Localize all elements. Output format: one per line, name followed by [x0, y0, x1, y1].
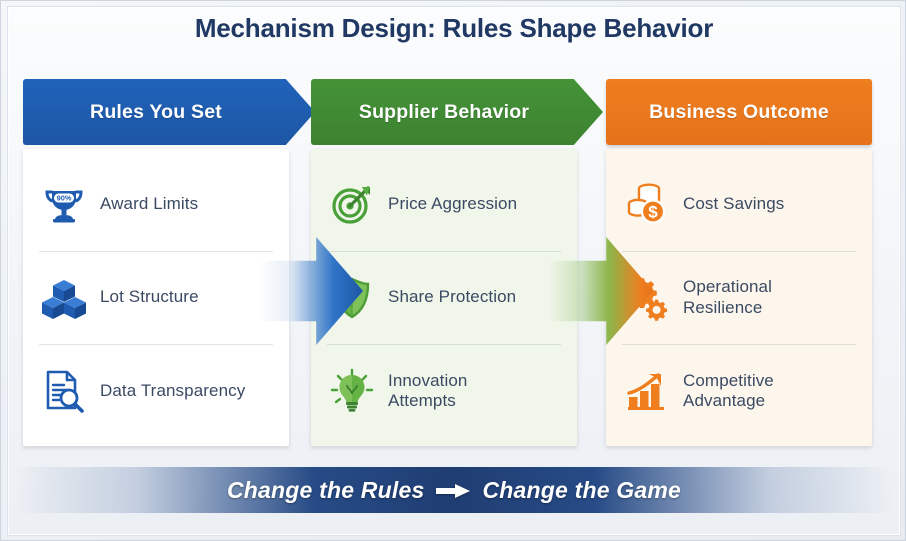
- target-arrow-icon: [329, 181, 375, 227]
- bottom-banner: Change the Rules Change the Game: [15, 467, 893, 513]
- column-header-label: Business Outcome: [649, 101, 829, 124]
- column-header-label: Supplier Behavior: [359, 101, 529, 124]
- growth-chart-icon: [624, 368, 670, 414]
- svg-text:$: $: [648, 202, 658, 221]
- cubes-icon: [41, 275, 87, 321]
- list-item-label: Data Transparency: [100, 381, 245, 401]
- column-supplier-behavior: Supplier Behavior Price Aggression: [311, 79, 577, 446]
- right-arrow-icon: [436, 484, 470, 497]
- list-item-label: Competitive Advantage: [683, 371, 774, 411]
- infographic-canvas: Mechanism Design: Rules Shape Behavior R…: [0, 0, 906, 541]
- list-item[interactable]: Price Aggression: [325, 157, 563, 251]
- list-item-label: Price Aggression: [388, 194, 517, 214]
- coins-dollar-icon: $: [624, 181, 670, 227]
- list-item[interactable]: Innovation Attempts: [325, 344, 563, 438]
- banner-left-text: Change the Rules: [227, 477, 424, 504]
- document-search-icon: [41, 368, 87, 414]
- lightbulb-icon: [329, 368, 375, 414]
- column-business-outcome: Business Outcome: [606, 79, 872, 446]
- list-item-label: Share Protection: [388, 287, 516, 307]
- page-title: Mechanism Design: Rules Shape Behavior: [1, 13, 906, 44]
- column-header-label: Rules You Set: [90, 101, 222, 124]
- trophy-badge-text: 90%: [57, 193, 72, 202]
- list-item-label: Cost Savings: [683, 194, 784, 214]
- list-item-label-line2: Attempts: [388, 391, 456, 410]
- list-item[interactable]: Operational Resilience: [620, 251, 858, 345]
- column-header-supplier-behavior[interactable]: Supplier Behavior: [311, 79, 603, 145]
- list-item-label-line1: Operational: [683, 277, 772, 296]
- column-rules-you-set: Rules You Set 90% Award Limits: [23, 79, 289, 446]
- column-header-rules-you-set[interactable]: Rules You Set: [23, 79, 315, 145]
- list-item-label: Lot Structure: [100, 287, 199, 307]
- list-item[interactable]: Lot Structure: [37, 251, 275, 345]
- list-item[interactable]: 90% Award Limits: [37, 157, 275, 251]
- list-item[interactable]: $ Cost Savings: [620, 157, 858, 251]
- list-item[interactable]: Competitive Advantage: [620, 344, 858, 438]
- column-body-rules-you-set: 90% Award Limits: [23, 149, 289, 446]
- list-item[interactable]: Share Protection: [325, 251, 563, 345]
- list-item-label: Operational Resilience: [683, 277, 772, 317]
- list-item-label-line2: Resilience: [683, 298, 762, 317]
- list-item-label: Award Limits: [100, 194, 198, 214]
- list-item-label-line1: Competitive: [683, 371, 774, 390]
- list-item-label-line1: Innovation: [388, 371, 467, 390]
- list-item[interactable]: Data Transparency: [37, 344, 275, 438]
- column-header-business-outcome[interactable]: Business Outcome: [606, 79, 872, 145]
- list-item-label: Innovation Attempts: [388, 371, 467, 411]
- list-item-label-line2: Advantage: [683, 391, 765, 410]
- trophy-icon: 90%: [41, 181, 87, 227]
- banner-right-text: Change the Game: [482, 477, 681, 504]
